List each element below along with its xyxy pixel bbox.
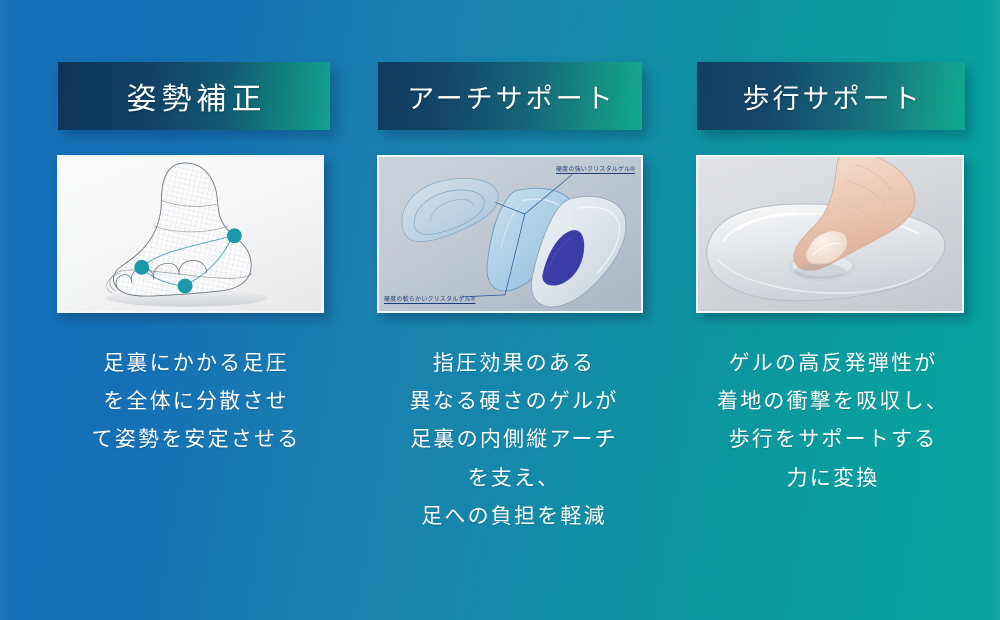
gel-insole-icon [379,157,641,313]
gel-shell-upper [402,178,498,241]
banner-title-arch-support: アーチサポート [404,77,615,116]
feature-caption-posture-correction: 足裏にかかる足圧 を全体に分散させ て姿勢を安定させる [51,345,341,460]
feature-column-posture-correction: 姿勢補正 [45,0,355,620]
banner-wrap-1: 姿勢補正 [45,62,355,130]
feature-caption-walking-support: ゲルの高反発弾性が 着地の衝撃を吸収し、 歩行をサポートする 力に変換 [690,345,976,498]
feature-columns: 姿勢補正 [0,0,1000,620]
feature-photo-walking-support [696,155,964,313]
banner-title-walking-support: 歩行サポート [740,77,923,116]
feature-caption-arch-support: 指圧効果のある 異なる硬さのゲルが 足裏の内側縦アーチ を支え、 足への負担を軽… [373,345,655,536]
feature-column-walking-support: 歩行サポート [686,0,986,620]
foot-wireframe-icon [59,157,322,313]
banner-wrap-3: 歩行サポート [686,62,986,130]
feature-banner-walking-support: 歩行サポート [697,62,965,130]
banner-wrap-2: アーチサポート [369,62,669,130]
feature-banner-arch-support: アーチサポート [378,62,642,130]
pressure-marker-heel [227,228,242,243]
finger-press-gel-icon [698,157,962,313]
feature-photo-arch-support: 硬度の強いクリスタルゲル® 硬度の軟らかいクリスタルゲル® [377,155,643,313]
banner-title-posture-correction: 姿勢補正 [122,74,267,118]
feature-photo-posture-correction [57,155,324,313]
feature-banner-posture-correction: 姿勢補正 [58,62,330,130]
feature-column-arch-support: アーチサポート [369,0,669,620]
gel-label-soft: 硬度の軟らかいクリスタルゲル® [384,294,475,303]
gel-label-hard: 硬度の強いクリスタルゲル® [556,164,635,173]
pressure-marker-forefoot [134,260,149,275]
pressure-marker-midfoot [178,279,193,294]
